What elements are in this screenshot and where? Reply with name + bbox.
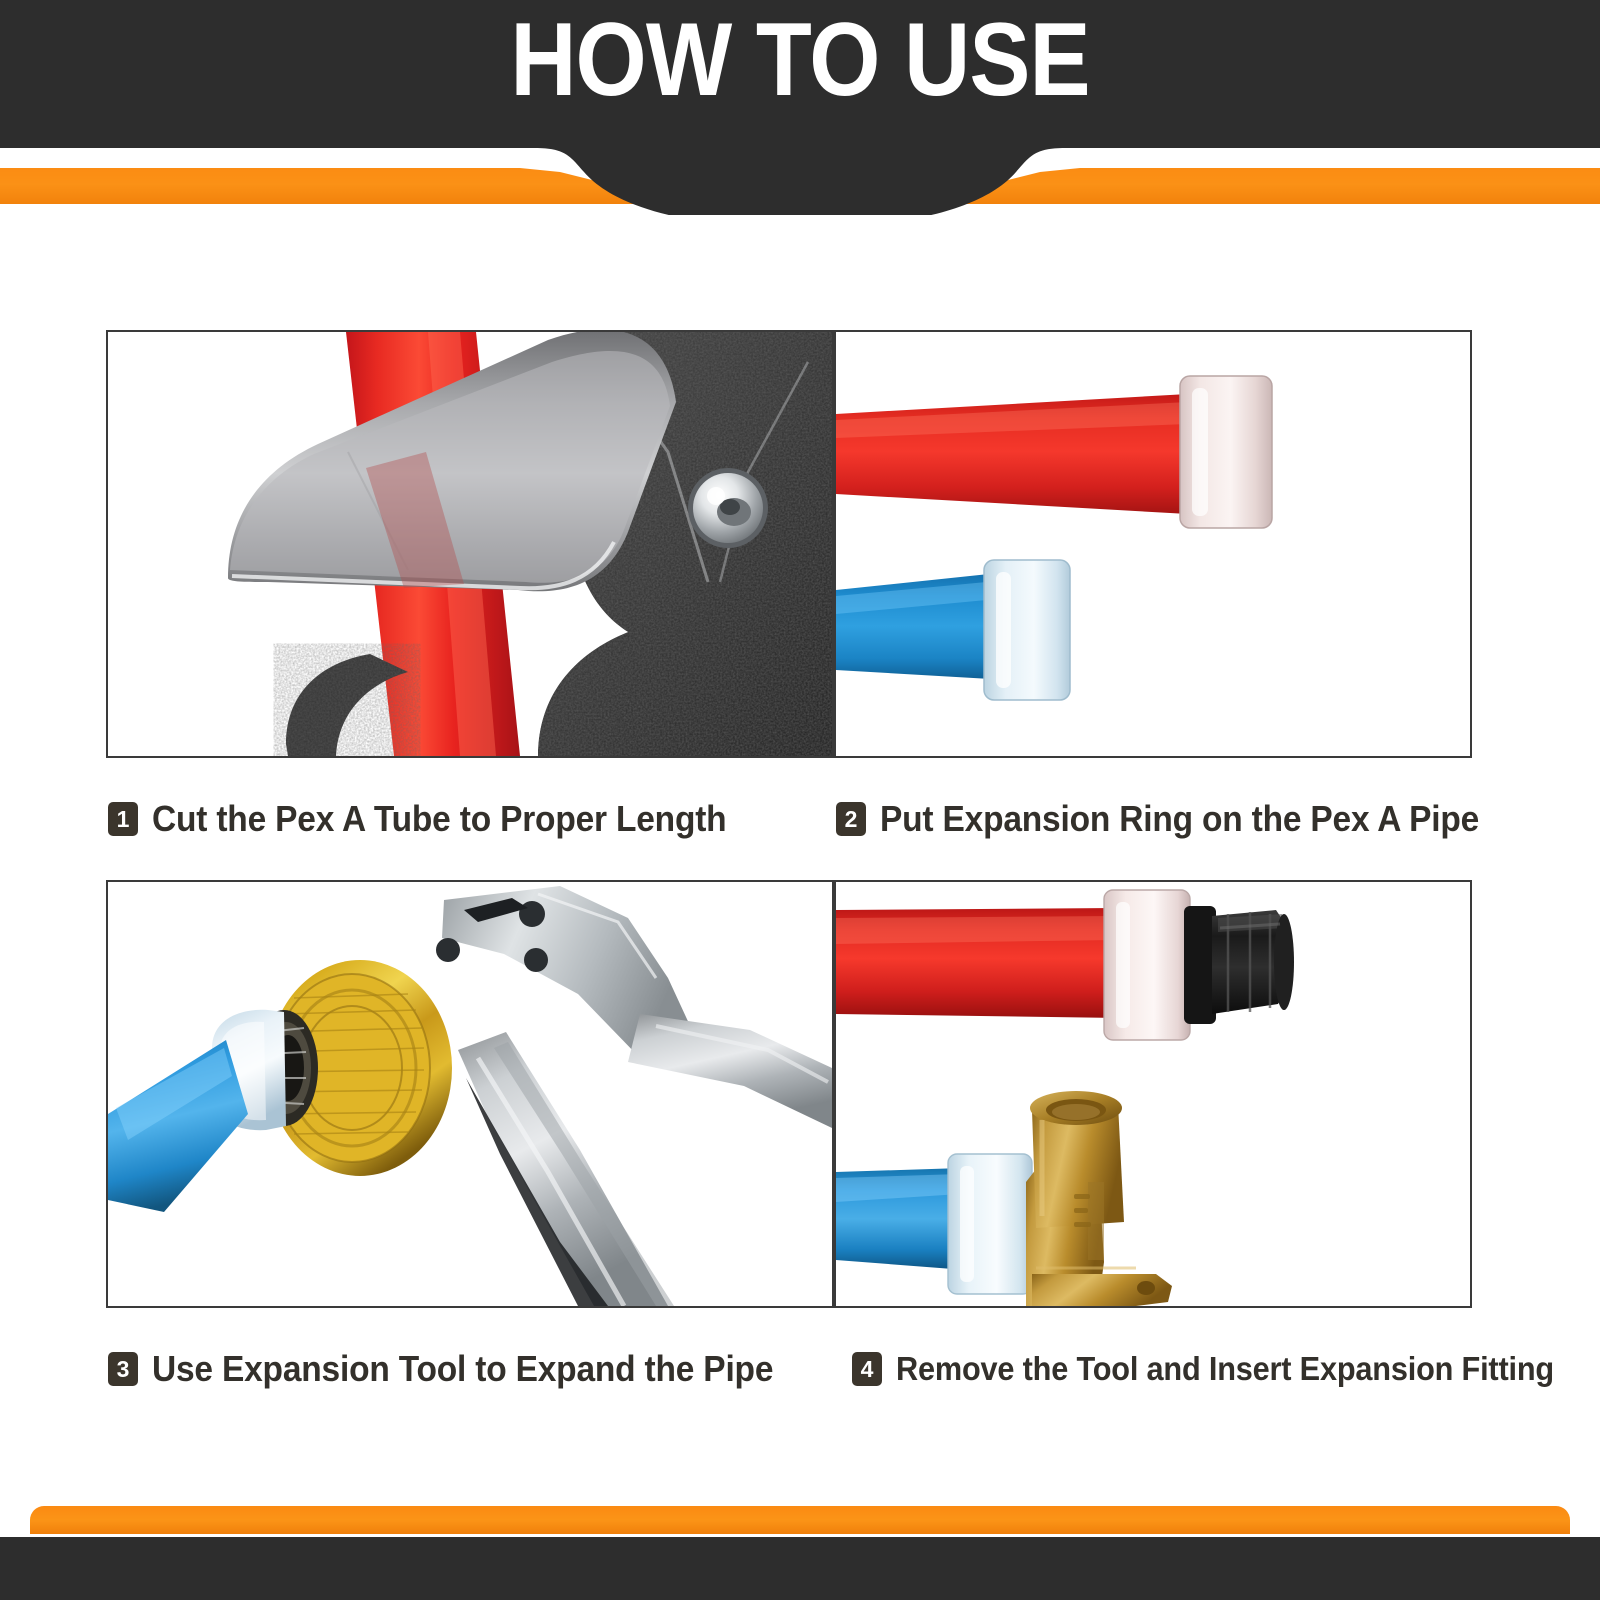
expansion-rings-illustration xyxy=(836,332,1470,756)
step-1-image-cell xyxy=(106,330,834,758)
step-2-caption-text: Put Expansion Ring on the Pex A Pipe xyxy=(880,798,1479,840)
footer-accent-stripe xyxy=(30,1506,1570,1534)
step-4-image-cell xyxy=(834,880,1472,1308)
expansion-fittings-illustration xyxy=(836,882,1470,1306)
page-title: HOW TO USE xyxy=(96,8,1504,112)
step-1-caption: 1 Cut the Pex A Tube to Proper Length xyxy=(106,758,834,880)
step-1-photo xyxy=(106,330,834,758)
expansion-tool-illustration xyxy=(108,882,832,1306)
step-3-caption-text: Use Expansion Tool to Expand the Pipe xyxy=(152,1348,773,1390)
step-3-image-cell xyxy=(106,880,834,1308)
step-2-number-badge: 2 xyxy=(836,802,866,836)
page-header: HOW TO USE xyxy=(0,0,1600,215)
step-2-photo xyxy=(834,330,1472,758)
footer-dark-bar xyxy=(0,1537,1600,1600)
step-4-photo xyxy=(834,880,1472,1308)
step-4-caption-text: Remove the Tool and Insert Expansion Fit… xyxy=(896,1350,1554,1388)
step-2-image-cell xyxy=(834,330,1472,758)
step-4-number-badge: 4 xyxy=(852,1352,882,1386)
pipe-cutter-illustration xyxy=(108,332,832,756)
step-2-caption: 2 Put Expansion Ring on the Pex A Pipe xyxy=(834,758,1472,880)
step-1-number-badge: 1 xyxy=(108,802,138,836)
step-4-caption: 4 Remove the Tool and Insert Expansion F… xyxy=(834,1308,1472,1430)
step-3-caption: 3 Use Expansion Tool to Expand the Pipe xyxy=(106,1308,834,1430)
step-3-photo xyxy=(106,880,834,1308)
step-3-number-badge: 3 xyxy=(108,1352,138,1386)
steps-grid: 1 Cut the Pex A Tube to Proper Length 2 … xyxy=(106,330,1472,1430)
step-1-caption-text: Cut the Pex A Tube to Proper Length xyxy=(152,798,726,840)
